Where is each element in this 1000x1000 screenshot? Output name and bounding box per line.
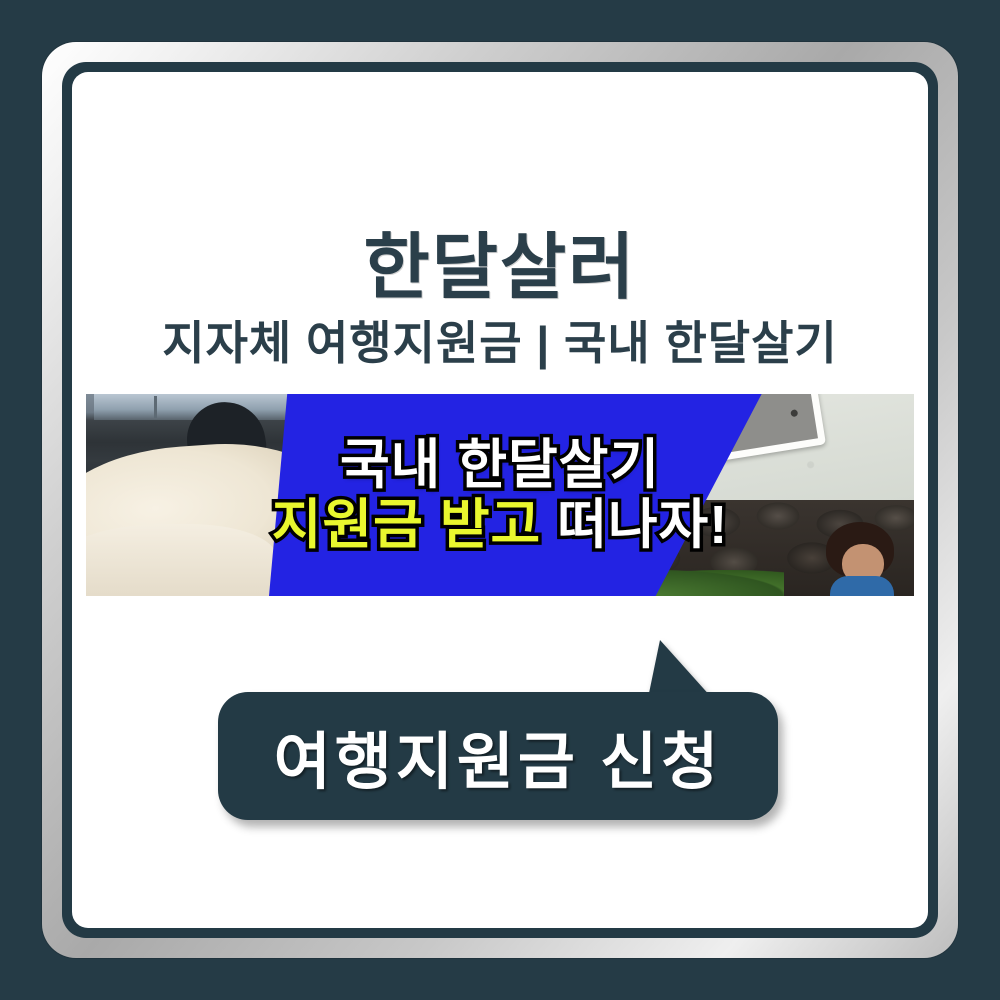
page-title: 한달살러 bbox=[72, 232, 928, 304]
banner-line-2-rest: 떠나자! bbox=[541, 495, 728, 555]
hero-banner[interactable]: 국내 한달살기 지원금 받고 떠나자! bbox=[86, 394, 914, 596]
cta-button[interactable]: 여행지원금 신청 bbox=[218, 692, 778, 820]
cta-label: 여행지원금 신청 bbox=[274, 711, 723, 801]
title-block: 한달살러 지자체 여행지원금 | 국내 한달살기 bbox=[72, 232, 928, 369]
banner-line-2: 지원금 받고 떠나자! bbox=[272, 497, 728, 553]
banner-line-1: 국내 한달살기 bbox=[340, 437, 660, 493]
cta-speech-bubble[interactable]: 여행지원금 신청 bbox=[218, 640, 778, 840]
banner-line-2-highlight: 지원금 받고 bbox=[272, 495, 541, 555]
page-subtitle: 지자체 여행지원금 | 국내 한달살기 bbox=[72, 318, 928, 369]
poster-root: 한달살러 지자체 여행지원금 | 국내 한달살기 bbox=[0, 0, 1000, 1000]
poster-canvas: 한달살러 지자체 여행지원금 | 국내 한달살기 bbox=[72, 72, 928, 928]
banner-text-block: 국내 한달살기 지원금 받고 떠나자! bbox=[86, 394, 914, 596]
speech-bubble-tail bbox=[648, 640, 712, 698]
